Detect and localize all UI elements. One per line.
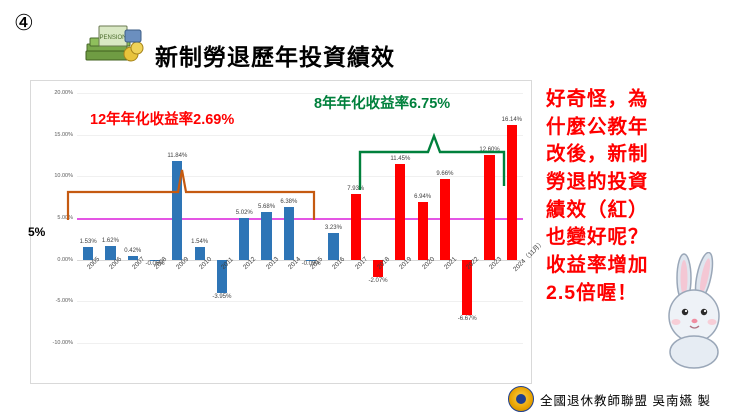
commentary-line: 改後，新制 (546, 141, 726, 169)
footer: 全國退休教師聯盟 吳南嬿 製 (508, 386, 711, 412)
bar-value-label: -3.95% (206, 294, 238, 300)
slide-number: ④ (14, 10, 34, 36)
y-axis-tick-label: 0.00% (57, 257, 73, 263)
bar-value-label: -6.67% (451, 316, 483, 322)
y-axis-tick-label: -5.00% (56, 298, 73, 304)
organization-seal-icon (508, 386, 534, 412)
gridline (77, 93, 523, 94)
svg-text:PENSION: PENSION (99, 35, 126, 41)
chart-bar (83, 247, 93, 260)
red-bracket (30, 120, 360, 230)
commentary-line: 好奇怪，為 (546, 86, 726, 114)
y-axis-tick-label: -10.00% (53, 340, 74, 346)
rabbit-mascot-icon (660, 252, 732, 370)
bar-value-label: -2.07% (362, 278, 394, 284)
red-bracket-label: 12年年化收益率2.69% (90, 108, 234, 129)
x-axis-tick-label: 2022 (465, 255, 480, 270)
x-axis-tick-label: 2018 (376, 255, 391, 270)
commentary-line: 勞退的投資 (546, 169, 726, 197)
chart-bar (328, 233, 338, 260)
green-bracket-label: 8年年化收益率6.75% (314, 92, 450, 113)
chart-bar (418, 202, 428, 260)
commentary-line: 績效（紅） (546, 197, 726, 225)
slide-root: ④ PENSION 新制勞退歷年投資績效 20.00%15.00%10.00%5… (0, 0, 740, 416)
five-percent-label: 5% (28, 225, 45, 239)
green-bracket (350, 108, 550, 198)
commentary-line: 什麼公教年 (546, 114, 726, 142)
chart-bar (195, 247, 205, 260)
gridline (77, 343, 523, 344)
commentary-line: 也變好呢？ (546, 224, 726, 252)
y-axis-tick-label: 20.00% (54, 90, 73, 96)
page-title: 新制勞退歷年投資績效 (155, 38, 395, 72)
x-axis-tick-label: 2011 (220, 256, 235, 271)
footer-text: 全國退休教師聯盟 吳南嬿 製 (540, 390, 711, 409)
bar-value-label: 1.54% (184, 239, 216, 245)
bar-value-label: 1.62% (94, 238, 126, 244)
gridline (77, 301, 523, 302)
money-stack-icon: PENSION (85, 18, 147, 66)
bar-value-label: 0.42% (117, 248, 149, 254)
chart-bar (105, 246, 115, 260)
